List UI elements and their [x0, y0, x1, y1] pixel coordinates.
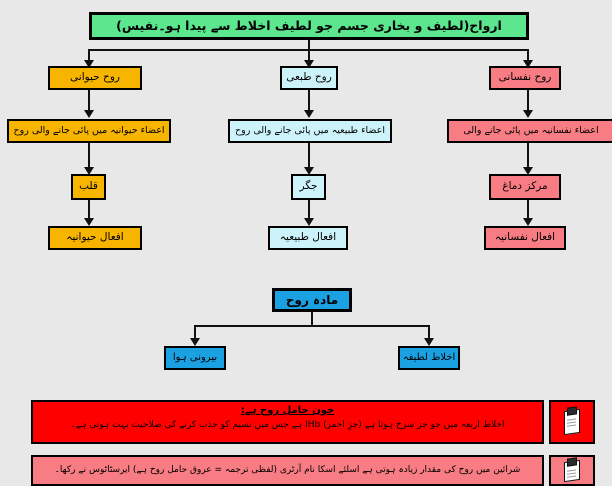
node-madda-rooh: مادہ روح	[272, 288, 352, 312]
node-markaz-dimagh: مرکز دماغ	[489, 174, 561, 200]
arrow-tabai-3	[304, 218, 314, 226]
node-rooh-nafsani: روح نفسانی	[489, 66, 561, 90]
node-qalb: قلب	[71, 174, 106, 200]
note-sharaeen: شرائین میں روح کی مقدار زیادہ ہوتی ہے اس…	[31, 455, 544, 486]
connector-madda-right	[428, 325, 430, 339]
clipboard-icon	[564, 459, 580, 481]
arrow-nafsani-3	[523, 218, 533, 226]
connector-madda-spine	[194, 325, 430, 327]
arrow-madda-left	[190, 338, 200, 346]
flowchart-canvas: ارواح(لطیف و بخاری جسم جو لطیف اخلاط سے …	[0, 0, 612, 486]
arrow-haiwani-1	[84, 110, 94, 118]
node-afaal-haiwania: افعال حیوانیہ	[48, 226, 142, 250]
connector-madda-trunk	[311, 312, 313, 326]
connector-nafsani-3	[527, 200, 529, 220]
note-khoon-hamil-rooh: خون حامل روح ہے: اخلاط اربعہ میں جو جز س…	[31, 400, 544, 444]
arrow-tabai-1	[304, 110, 314, 118]
connector-nafsani-2	[527, 143, 529, 169]
note-khoon-body: اخلاط اربعہ میں جو جز سرخ ہوتا ہے (جزِ ا…	[33, 420, 542, 430]
arrow-nafsani-1	[523, 110, 533, 118]
connector-tabai-2	[308, 143, 310, 169]
node-aaza-tabiya: اعضاء طبیعیہ میں پائی جانے والی روح	[228, 119, 392, 143]
note-khoon-icon-panel	[549, 400, 595, 444]
title-node: ارواح(لطیف و بخاری جسم جو لطیف اخلاط سے …	[89, 12, 529, 40]
connector-haiwani-3	[88, 200, 90, 220]
clipboard-icon	[564, 409, 580, 435]
connector-madda-left	[194, 325, 196, 339]
arrow-madda-right	[424, 338, 434, 346]
connector-nafsani-1	[527, 90, 529, 112]
node-afaal-nafsania: افعال نفسانیہ	[484, 226, 566, 250]
node-aaza-nafsania: اعضاء نفسانیہ میں پائی جانے والی	[447, 119, 612, 143]
node-aaza-haiwania: اعضاء حیوانیہ میں پائی جانے والی روح	[7, 119, 171, 143]
connector-haiwani-2	[88, 143, 90, 169]
node-rooh-haiwani: روح حیوانی	[48, 66, 142, 90]
arrow-haiwani-3	[84, 218, 94, 226]
connector-tabai-1	[308, 90, 310, 112]
connector-tabai-3	[308, 200, 310, 220]
note-sharaeen-icon-panel	[549, 455, 595, 486]
node-akhlat-latifa: اخلاط لطیفہ	[398, 346, 460, 370]
node-bairooni-hawa: بیرونی ہوا	[164, 346, 226, 370]
note-khoon-heading: خون حامل روح ہے:	[33, 405, 542, 416]
connector-haiwani-1	[88, 90, 90, 112]
node-afaal-tabiya: افعال طبیعیہ	[268, 226, 348, 250]
node-jigar: جگر	[291, 174, 326, 200]
node-rooh-tabai: روح طبعی	[280, 66, 338, 90]
note-sharaeen-body: شرائین میں روح کی مقدار زیادہ ہوتی ہے اس…	[33, 465, 542, 475]
